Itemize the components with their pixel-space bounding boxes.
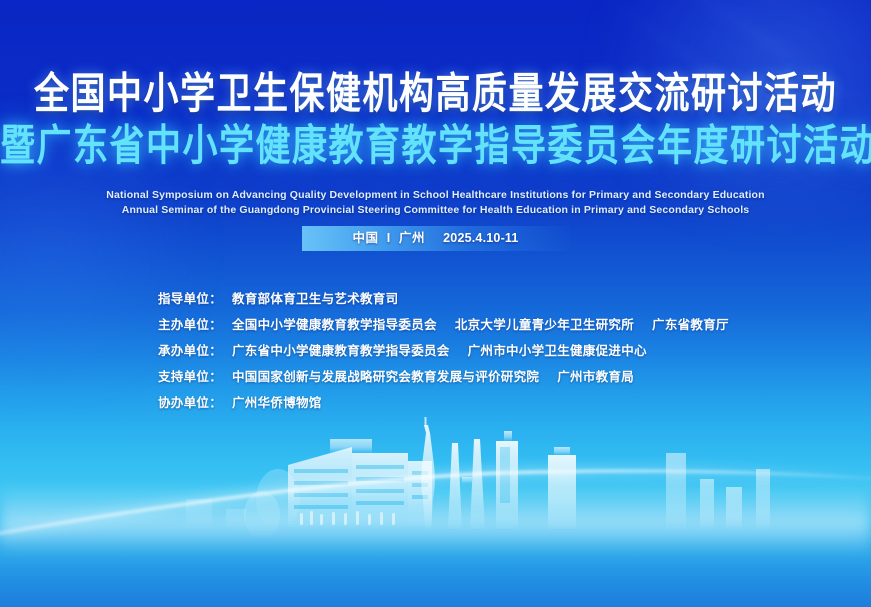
organizer-values: 教育部体育卫生与艺术教育司 [232, 288, 398, 307]
location-date-badge-wrapper: 中国 I 广州 2025.4.10-11 [0, 226, 871, 251]
organizer-row: 指导单位：教育部体育卫生与艺术教育司 [158, 288, 729, 314]
organizer-label: 支持单位： [158, 366, 232, 385]
organizer-label: 指导单位： [158, 288, 232, 307]
headline-block: 全国中小学卫生保健机构高质量发展交流研讨活动 暨广东省中小学健康教育教学指导委员… [0, 70, 871, 217]
organizer-label: 协办单位： [158, 392, 232, 411]
subtitle-english-line-1: National Symposium on Advancing Quality … [0, 188, 871, 203]
right-tower-cluster-silhouette [666, 453, 770, 529]
organizer-values: 中国国家创新与发展战略研究会教育发展与评价研究院广州市教育局 [232, 366, 634, 385]
foliage-silhouette [244, 469, 300, 539]
organizer-value: 教育部体育卫生与艺术教育司 [232, 288, 398, 307]
organizer-value: 中国国家创新与发展战略研究会教育发展与评价研究院 [232, 366, 539, 385]
poster-subtitle-english: National Symposium on Advancing Quality … [0, 188, 871, 217]
organizer-label: 主办单位： [158, 314, 232, 333]
organizer-value: 全国中小学健康教育教学指导委员会 [232, 314, 437, 333]
organizer-values: 全国中小学健康教育教学指导委员会北京大学儿童青少年卫生研究所广东省教育厅 [232, 314, 729, 333]
organizer-values: 广东省中小学健康教育教学指导委员会广州市中小学卫生健康促进中心 [232, 340, 647, 359]
subtitle-english-line-2: Annual Seminar of the Guangdong Provinci… [0, 203, 871, 218]
badge-date: 2025.4.10-11 [443, 231, 518, 245]
organizer-row: 支持单位：中国国家创新与发展战略研究会教育发展与评价研究院广州市教育局 [158, 366, 729, 392]
light-sweep-arc [0, 407, 871, 607]
organizer-value: 广东省中小学健康教育教学指导委员会 [232, 340, 450, 359]
organizer-value: 广州市中小学卫生健康促进中心 [468, 340, 647, 359]
organizer-value: 广东省教育厅 [652, 314, 729, 333]
badge-country: 中国 [352, 231, 378, 245]
organizer-row: 承办单位：广东省中小学健康教育教学指导委员会广州市中小学卫生健康促进中心 [158, 340, 729, 366]
school-building-silhouette [288, 439, 432, 527]
people-figures [300, 511, 395, 525]
organizer-value: 广州华侨博物馆 [232, 392, 322, 411]
twin-tower-silhouette [448, 439, 485, 529]
office-tower-silhouette [548, 447, 576, 529]
organizer-label: 承办单位： [158, 340, 232, 359]
organizer-value: 广州市教育局 [557, 366, 634, 385]
far-left-blocks-silhouette [186, 499, 246, 529]
organizer-value: 北京大学儿童青少年卫生研究所 [455, 314, 634, 333]
organizers-list: 指导单位：教育部体育卫生与艺术教育司主办单位：全国中小学健康教育教学指导委员会北… [158, 288, 729, 418]
horizon-mist [0, 485, 871, 555]
poster-title-line-1: 全国中小学卫生保健机构高质量发展交流研讨活动 [0, 70, 871, 119]
organizer-values: 广州华侨博物馆 [232, 392, 322, 411]
badge-separator: I [383, 231, 395, 245]
organizer-row: 协办单位：广州华侨博物馆 [158, 392, 729, 418]
stepped-highrise-silhouette [496, 431, 518, 529]
conference-poster: 全国中小学卫生保健机构高质量发展交流研讨活动 暨广东省中小学健康教育教学指导委员… [0, 0, 871, 607]
poster-title-line-2: 暨广东省中小学健康教育教学指导委员会年度研讨活动 [0, 122, 871, 171]
badge-city: 广州 [399, 231, 425, 245]
guangzhou-skyline-silhouette [0, 417, 871, 607]
canton-tower-silhouette [421, 417, 435, 529]
organizer-row: 主办单位：全国中小学健康教育教学指导委员会北京大学儿童青少年卫生研究所广东省教育… [158, 314, 729, 340]
location-date-badge: 中国 I 广州 2025.4.10-11 [302, 226, 570, 251]
